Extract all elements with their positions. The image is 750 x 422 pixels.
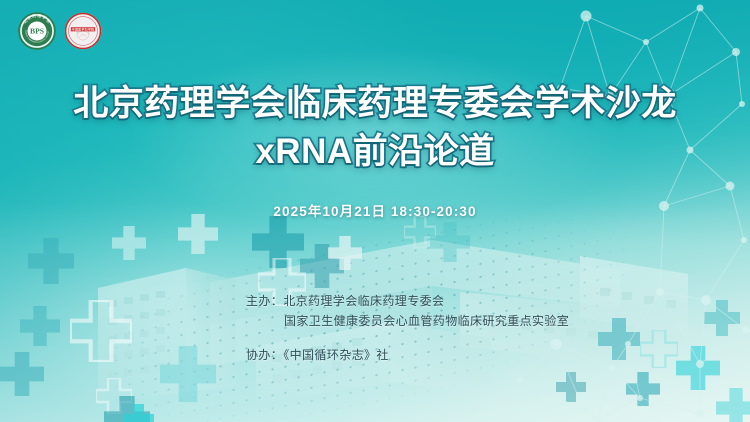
host-line-1: 主办：北京药理学会临床药理专委会 (246, 292, 569, 312)
coorganizer-line: 协办：《中国循环杂志》社 (246, 346, 569, 366)
host-line-2: 国家卫生健康委员会心血管药物临床研究重点实验室 (246, 312, 569, 332)
poster-title-sub: xRNA前沿论道 (0, 132, 750, 171)
organizer-block: 主办：北京药理学会临床药理专委会 国家卫生健康委员会心血管药物临床研究重点实验室… (246, 292, 569, 365)
poster-title-main: 北京药理学会临床药理专委会学术沙龙 (0, 84, 750, 123)
poster-content: 北京药理学会临床药理专委会学术沙龙 xRNA前沿论道 2025年10月21日 1… (0, 0, 750, 422)
poster-canvas: 北京药理学会 BEIJING PHARMACOLOGICAL SOCIETY B… (0, 0, 750, 422)
event-datetime: 2025年10月21日 18:30-20:30 (0, 200, 750, 220)
title-block: 北京药理学会临床药理专委会学术沙龙 xRNA前沿论道 (0, 84, 750, 171)
